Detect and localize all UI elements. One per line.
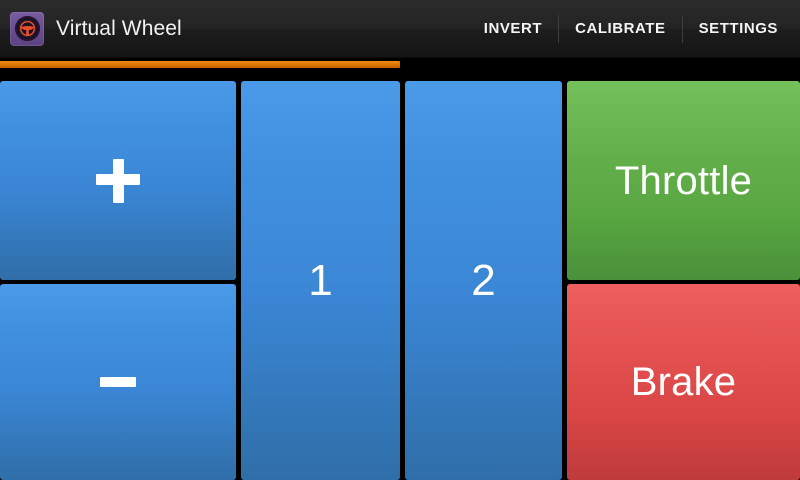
virtual-wheel-app: Virtual Wheel INVERT CALIBRATE SETTINGS … — [0, 0, 800, 480]
action-calibrate[interactable]: CALIBRATE — [559, 0, 682, 58]
steering-progress-fill — [0, 61, 400, 68]
steering-wheel-glyph — [18, 19, 37, 38]
pedals-column: Throttle Brake — [567, 81, 800, 480]
gear-1-button[interactable]: 1 — [241, 81, 400, 480]
throttle-button[interactable]: Throttle — [567, 81, 800, 280]
brake-button[interactable]: Brake — [567, 284, 800, 480]
plus-icon — [96, 159, 140, 203]
steering-progress-track[interactable] — [0, 61, 800, 68]
brake-label: Brake — [631, 362, 737, 402]
throttle-label: Throttle — [615, 161, 752, 201]
gear-2-column: 2 — [405, 81, 562, 480]
gear-1-column: 1 — [241, 81, 400, 480]
gear-down-button[interactable]: − — [0, 284, 236, 480]
app-icon — [10, 12, 44, 46]
control-grid: + − 1 2 Throttle — [0, 81, 800, 480]
gear-shift-column: + − — [0, 81, 236, 480]
action-settings[interactable]: SETTINGS — [683, 0, 794, 58]
gear-up-button[interactable]: + — [0, 81, 236, 280]
gear-1-label: 1 — [308, 259, 332, 303]
action-bar: Virtual Wheel INVERT CALIBRATE SETTINGS — [0, 0, 800, 58]
minus-icon — [100, 377, 136, 387]
page-title: Virtual Wheel — [56, 17, 182, 41]
gear-2-label: 2 — [471, 259, 495, 303]
gear-2-button[interactable]: 2 — [405, 81, 562, 480]
action-bar-actions: INVERT CALIBRATE SETTINGS — [468, 0, 800, 57]
action-invert[interactable]: INVERT — [468, 0, 558, 58]
